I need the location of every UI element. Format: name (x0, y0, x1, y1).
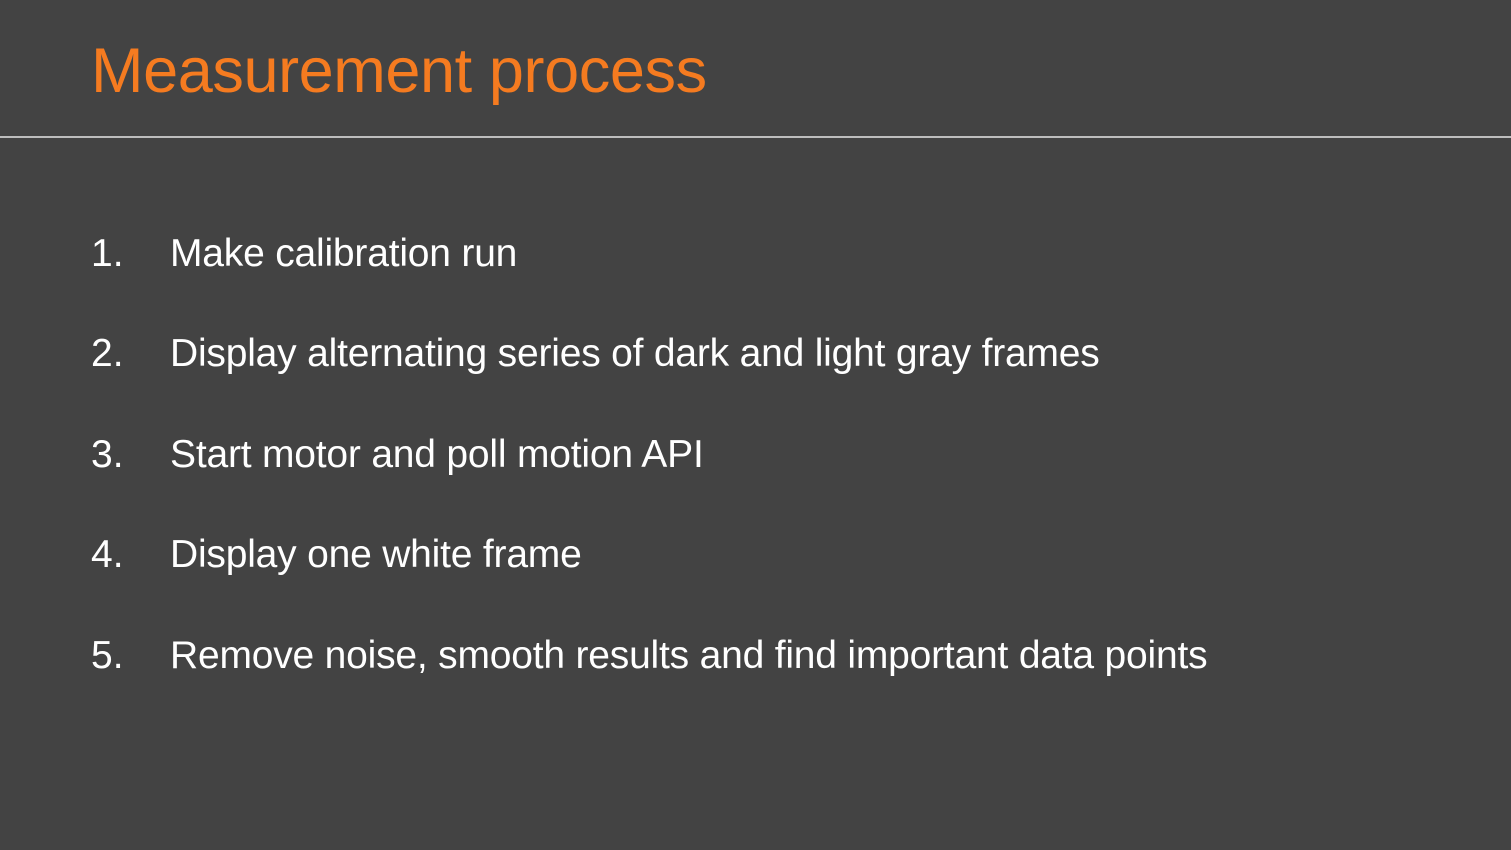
list-item-number: 5. (91, 634, 170, 679)
presentation-slide: Measurement process 1. Make calibration … (0, 0, 1511, 850)
list-item: 2. Display alternating series of dark an… (91, 332, 1100, 377)
list-item: 5. Remove noise, smooth results and find… (91, 634, 1207, 679)
list-item-number: 3. (91, 433, 170, 478)
list-item-label: Start motor and poll motion API (170, 433, 704, 478)
list-item: 4. Display one white frame (91, 533, 582, 578)
list-item-label: Make calibration run (170, 232, 517, 277)
list-item-number: 4. (91, 533, 170, 578)
list-item-label: Display alternating series of dark and l… (170, 332, 1100, 377)
list-item: 1. Make calibration run (91, 232, 517, 277)
list-item-number: 1. (91, 232, 170, 277)
slide-body: 1. Make calibration run 2. Display alter… (0, 138, 1511, 850)
list-item: 3. Start motor and poll motion API (91, 433, 704, 478)
list-item-label: Display one white frame (170, 533, 582, 578)
list-item-label: Remove noise, smooth results and find im… (170, 634, 1207, 679)
page-title: Measurement process (91, 37, 707, 105)
list-item-number: 2. (91, 332, 170, 377)
slide-header: Measurement process (0, 0, 1511, 137)
